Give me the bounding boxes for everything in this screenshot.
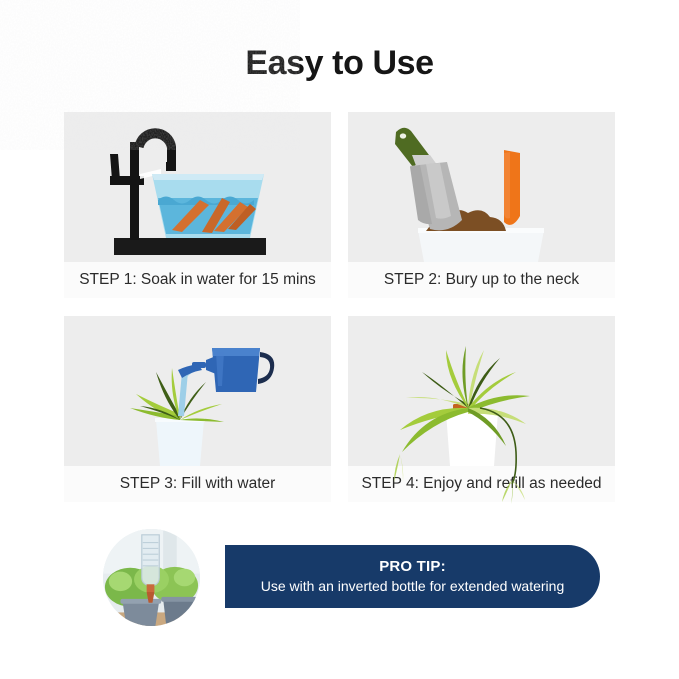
- watering-can-icon: [178, 348, 274, 392]
- pro-tip-text: Use with an inverted bottle for extended…: [261, 577, 565, 596]
- step-3-caption: STEP 3: Fill with water: [64, 466, 331, 502]
- steps-grid: STEP 1: Soak in water for 15 mins: [64, 112, 615, 502]
- step-3-illustration: [64, 316, 331, 466]
- step-card-4: STEP 4: Enjoy and refill as needed: [348, 316, 615, 502]
- step-2-illustration: [348, 112, 615, 262]
- healthy-spider-plant-icon: [348, 316, 615, 466]
- plant-leaves: [130, 368, 224, 422]
- step-1-illustration: [64, 112, 331, 262]
- pro-tip-photo: [103, 529, 200, 626]
- step-2-caption: STEP 2: Bury up to the neck: [348, 262, 615, 298]
- page-title: Easy to Use: [0, 44, 679, 83]
- pro-tip-bar: PRO TIP: Use with an inverted bottle for…: [225, 545, 600, 608]
- step-card-2: STEP 2: Bury up to the neck: [348, 112, 615, 298]
- inverted-bottle-photo-icon: [103, 529, 200, 626]
- pro-tip-title: PRO TIP:: [379, 558, 446, 576]
- faucet-basin-icon: [64, 112, 331, 262]
- pro-tip-banner: PRO TIP: Use with an inverted bottle for…: [103, 529, 600, 626]
- watering-can-plant-icon: [64, 316, 331, 466]
- step-1-caption: STEP 1: Soak in water for 15 mins: [64, 262, 331, 298]
- step-card-3: STEP 3: Fill with water: [64, 316, 331, 502]
- step-4-caption: STEP 4: Enjoy and refill as needed: [348, 466, 615, 502]
- step-card-1: STEP 1: Soak in water for 15 mins: [64, 112, 331, 298]
- step-4-illustration: [348, 316, 615, 466]
- trowel-pot-icon: [348, 112, 615, 262]
